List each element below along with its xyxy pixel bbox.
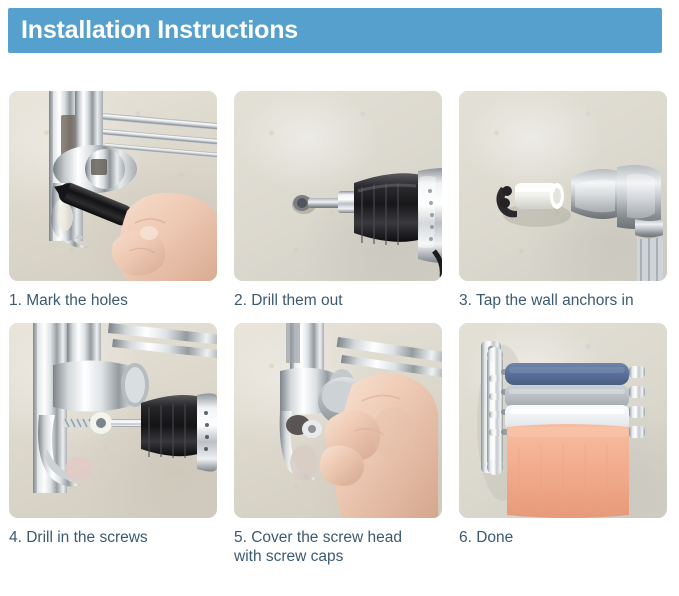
drill-screw-illustration [9,323,217,518]
step-1-caption: 1. Mark the holes [9,291,217,310]
step-4-photo [9,323,217,518]
step-3: 3. Tap the wall anchors in [459,91,667,310]
step-5-caption: 5. Cover the screw head with screw caps [234,528,442,566]
step-5-photo [234,323,442,518]
drill-illustration [234,91,442,281]
page-title: Installation Instructions [8,16,298,45]
step-2-caption: 2. Drill them out [234,291,442,310]
mark-holes-illustration [9,91,217,281]
step-3-caption: 3. Tap the wall anchors in [459,291,667,310]
step-5: 5. Cover the screw head with screw caps [234,323,442,566]
installation-steps-grid: 1. Mark the holes [9,91,669,566]
steps-row-1: 1. Mark the holes [9,91,669,310]
header-banner: Installation Instructions [8,8,662,53]
step-6: 6. Done [459,323,667,566]
step-1: 1. Mark the holes [9,91,217,310]
screw-cap-illustration [234,323,442,518]
step-6-caption: 6. Done [459,528,667,547]
step-3-photo [459,91,667,281]
step-4: 4. Drill in the screws [9,323,217,566]
steps-row-2: 4. Drill in the screws [9,323,669,566]
step-1-photo [9,91,217,281]
step-4-caption: 4. Drill in the screws [9,528,217,547]
hammer-anchor-illustration [459,91,667,281]
finished-towel-rack-illustration [459,323,667,518]
step-2-photo [234,91,442,281]
step-2: 2. Drill them out [234,91,442,310]
step-6-photo [459,323,667,518]
